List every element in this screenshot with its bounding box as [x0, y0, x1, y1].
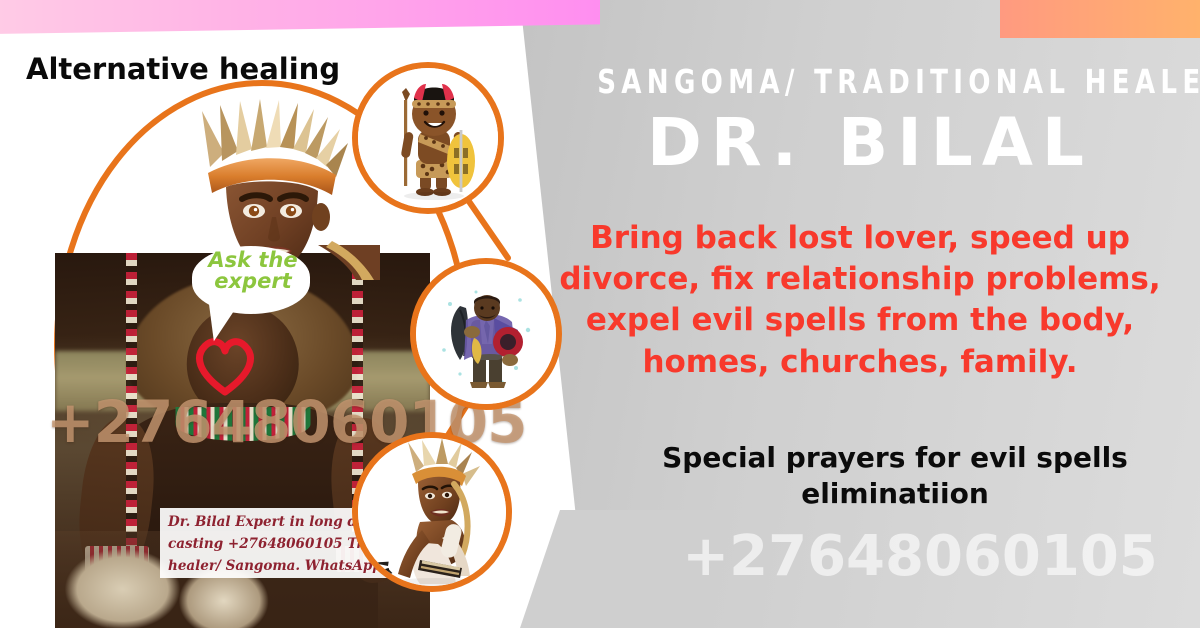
services-text: Bring back lost lover, speed up divorce,… — [540, 218, 1180, 383]
top-pink-band — [0, 0, 600, 34]
page-title: Alternative healing — [26, 52, 340, 86]
poster-canvas: Alternative healing +27648060105 — [0, 0, 1200, 628]
zulu-warrior-icon — [358, 68, 498, 208]
healer-name: DR. BILAL — [560, 104, 1180, 181]
caption-line-3: healer/ Sangoma. WhatsApp me — [168, 556, 386, 578]
circle-zulu-warrior — [352, 62, 504, 214]
diviner-icon — [416, 264, 556, 404]
kicker-text: SANGOMA/ TRADITIONAL HEALER — [597, 62, 1143, 101]
special-prayers-text: Special prayers for evil spells eliminat… — [600, 440, 1190, 513]
red-heart-icon — [191, 334, 259, 396]
top-orange-band — [1000, 0, 1200, 38]
photo-bead-necklace — [175, 407, 310, 441]
caption-line-2: casting +27648060105 Traditi — [168, 534, 386, 556]
speech-bubble-label: Ask the expert — [197, 250, 309, 293]
photo-strap-left — [126, 253, 137, 553]
dancer-icon — [358, 438, 506, 586]
circle-dancer — [352, 432, 512, 592]
ghost-phone-number: +27648060105 — [640, 524, 1200, 589]
